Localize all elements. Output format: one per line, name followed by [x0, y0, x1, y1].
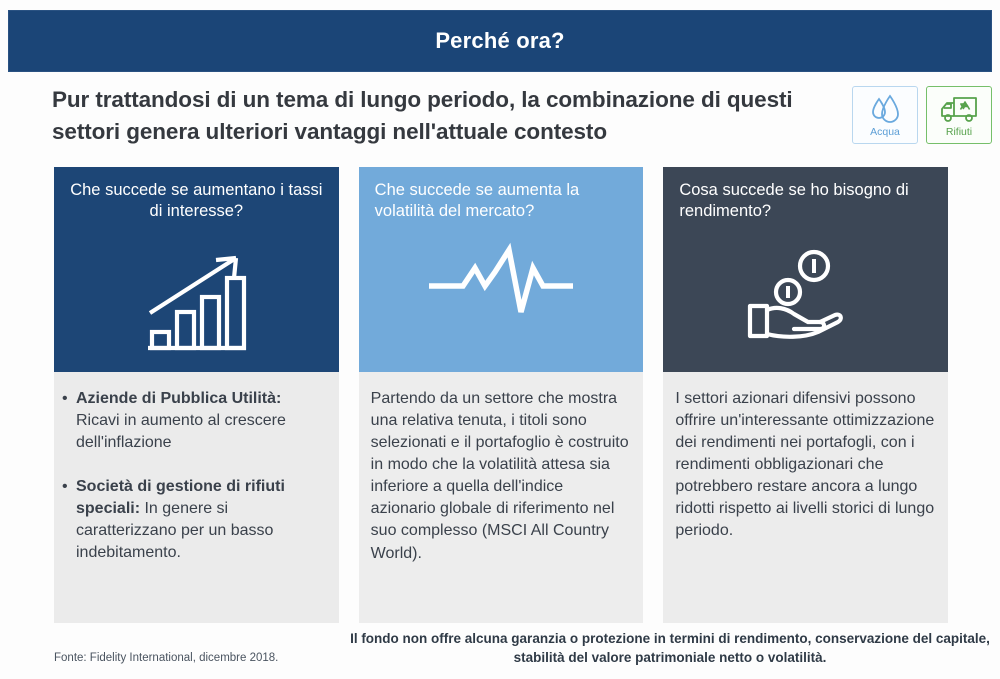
column-1-header: Che succede se aumentano i tassi di inte… — [54, 167, 339, 372]
rising-bar-chart-arrow-icon — [54, 250, 339, 358]
badge-rifiuti-label: Rifiuti — [946, 127, 972, 138]
column-3-paragraph: I settori azionari difensivi possono off… — [675, 388, 936, 543]
recycling-truck-icon — [940, 92, 978, 126]
column-yield-need: Cosa succede se ho bisogno di rendimento… — [663, 167, 948, 623]
bullet-dot-icon: • — [62, 476, 76, 564]
column-2-question: Che succede se aumenta la volatilità del… — [373, 180, 630, 223]
column-1-body: • Aziende di Pubblica Utilità: Ricavi in… — [54, 372, 339, 623]
bullet-item: • Società di gestione di rifiuti special… — [62, 476, 327, 564]
volatility-pulse-icon — [359, 242, 644, 320]
column-interest-rates: Che succede se aumentano i tassi di inte… — [54, 167, 339, 623]
badge-rifiuti: Rifiuti — [926, 86, 992, 144]
content-columns: Che succede se aumentano i tassi di inte… — [54, 167, 948, 623]
theme-badges: Acqua Rifiuti — [852, 86, 992, 144]
bullet-1-text: Aziende di Pubblica Utilità: Ricavi in a… — [76, 388, 327, 454]
page-title: Perché ora? — [8, 28, 992, 54]
badge-acqua: Acqua — [852, 86, 918, 144]
source-note: Fonte: Fidelity International, dicembre … — [54, 652, 278, 664]
column-3-body: I settori azionari difensivi possono off… — [663, 372, 948, 623]
hand-with-coins-icon — [663, 244, 948, 348]
badge-acqua-label: Acqua — [870, 127, 900, 138]
bullet-dot-icon: • — [62, 388, 76, 454]
column-market-volatility: Che succede se aumenta la volatilità del… — [359, 167, 644, 623]
water-drops-icon — [868, 92, 902, 126]
bullet-item: • Aziende di Pubblica Utilità: Ricavi in… — [62, 388, 327, 454]
bullet-1-lead: Aziende di Pubblica Utilità: — [76, 390, 281, 407]
bullet-1-rest: Ricavi in aumento al crescere dell'infla… — [76, 412, 286, 451]
bullet-2-text: Società di gestione di rifiuti speciali:… — [76, 476, 327, 564]
column-3-question: Cosa succede se ho bisogno di rendimento… — [677, 180, 934, 223]
column-2-header: Che succede se aumenta la volatilità del… — [359, 167, 644, 372]
column-2-body: Partendo da un settore che mostra una re… — [359, 372, 644, 623]
column-3-header: Cosa succede se ho bisogno di rendimento… — [663, 167, 948, 372]
column-1-question: Che succede se aumentano i tassi di inte… — [68, 180, 325, 223]
page-banner: Perché ora? — [8, 10, 992, 72]
column-2-paragraph: Partendo da un settore che mostra una re… — [371, 388, 632, 565]
disclaimer-text: Il fondo non offre alcuna garanzia o pro… — [340, 629, 1000, 667]
headline-text: Pur trattandosi di un tema di lungo peri… — [52, 84, 822, 148]
